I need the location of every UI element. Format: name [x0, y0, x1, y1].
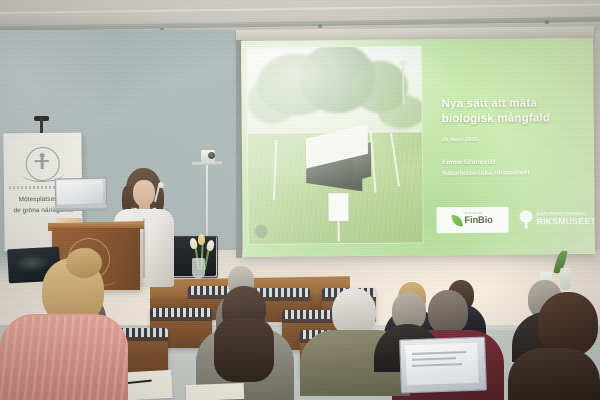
- audience-blonde-bun-knot: [66, 248, 102, 278]
- slide-presenter-name: Emma Granqvist: [442, 156, 530, 168]
- microphone-icon: [158, 182, 164, 188]
- finbio-logo: FinBio SciLifeLab: [436, 207, 508, 234]
- audience-brown-long-hair: [214, 318, 274, 382]
- presentation-room-photo: Nya sätt att mäta biologisk mångfald 25 …: [0, 0, 600, 400]
- rail-screw-icon: [318, 24, 322, 28]
- nrm-logo-line2: RIKSMUSEET: [537, 217, 595, 227]
- tree-trunk-icon: [525, 220, 528, 229]
- audience-blonde-bun-stripes: [0, 316, 128, 400]
- audience-brunette-right-head: [538, 292, 598, 356]
- leaf-icon: [451, 213, 463, 228]
- slide-presenter-org: Naturhistoriska riksmuseet: [442, 168, 530, 180]
- tulip-flower: [198, 234, 205, 245]
- naturhistoriska-riksmuseet-logo: NATURHISTORISKA RIKSMUSEET: [518, 206, 592, 233]
- finbio-logo-sub: SciLifeLab: [464, 211, 482, 215]
- flower-vase: [192, 258, 205, 278]
- tree-icon: [518, 210, 533, 228]
- slide-title: Nya sätt att mäta biologisk mångfald: [441, 96, 587, 128]
- rail-screw-icon: [545, 20, 549, 24]
- nrm-logo-text: NATURHISTORISKA RIKSMUSEET: [537, 212, 595, 226]
- camera-lens-icon: [208, 152, 215, 159]
- photo-credit-badge: [255, 225, 268, 238]
- audience-brunette-right-shoulders: [508, 348, 600, 400]
- laptop-glare: [57, 179, 104, 204]
- audience-screen-glow: [14, 253, 51, 273]
- presenter-face: [133, 180, 155, 207]
- crest-arms: [35, 160, 49, 162]
- field-marker-card: [328, 193, 348, 221]
- audience-white-hair-head: [332, 288, 376, 336]
- chair-upholstery: [150, 308, 212, 317]
- photo-lamppost: [402, 65, 404, 105]
- lectern-lamp: [56, 218, 82, 222]
- finbio-logo-text: FinBio: [464, 214, 492, 225]
- flower-vase: [560, 268, 571, 290]
- photo-bush: [247, 78, 297, 124]
- marker-stem: [338, 219, 340, 241]
- projection-screen: Nya sätt att mäta biologisk mångfald 25 …: [241, 38, 595, 257]
- slide-photo-malaise-trap: [247, 46, 423, 244]
- audience-maroon-head: [428, 290, 468, 334]
- academy-crest-icon: [26, 147, 60, 181]
- slide-presenter: Emma Granqvist Naturhistoriska riksmusee…: [442, 156, 530, 179]
- notepad: [186, 383, 245, 400]
- photo-lamppost-head: [399, 61, 407, 65]
- chair-upholstery-row: [150, 317, 212, 321]
- photo-bush: [377, 94, 422, 128]
- slide-date: 25 mars 2025: [442, 137, 478, 143]
